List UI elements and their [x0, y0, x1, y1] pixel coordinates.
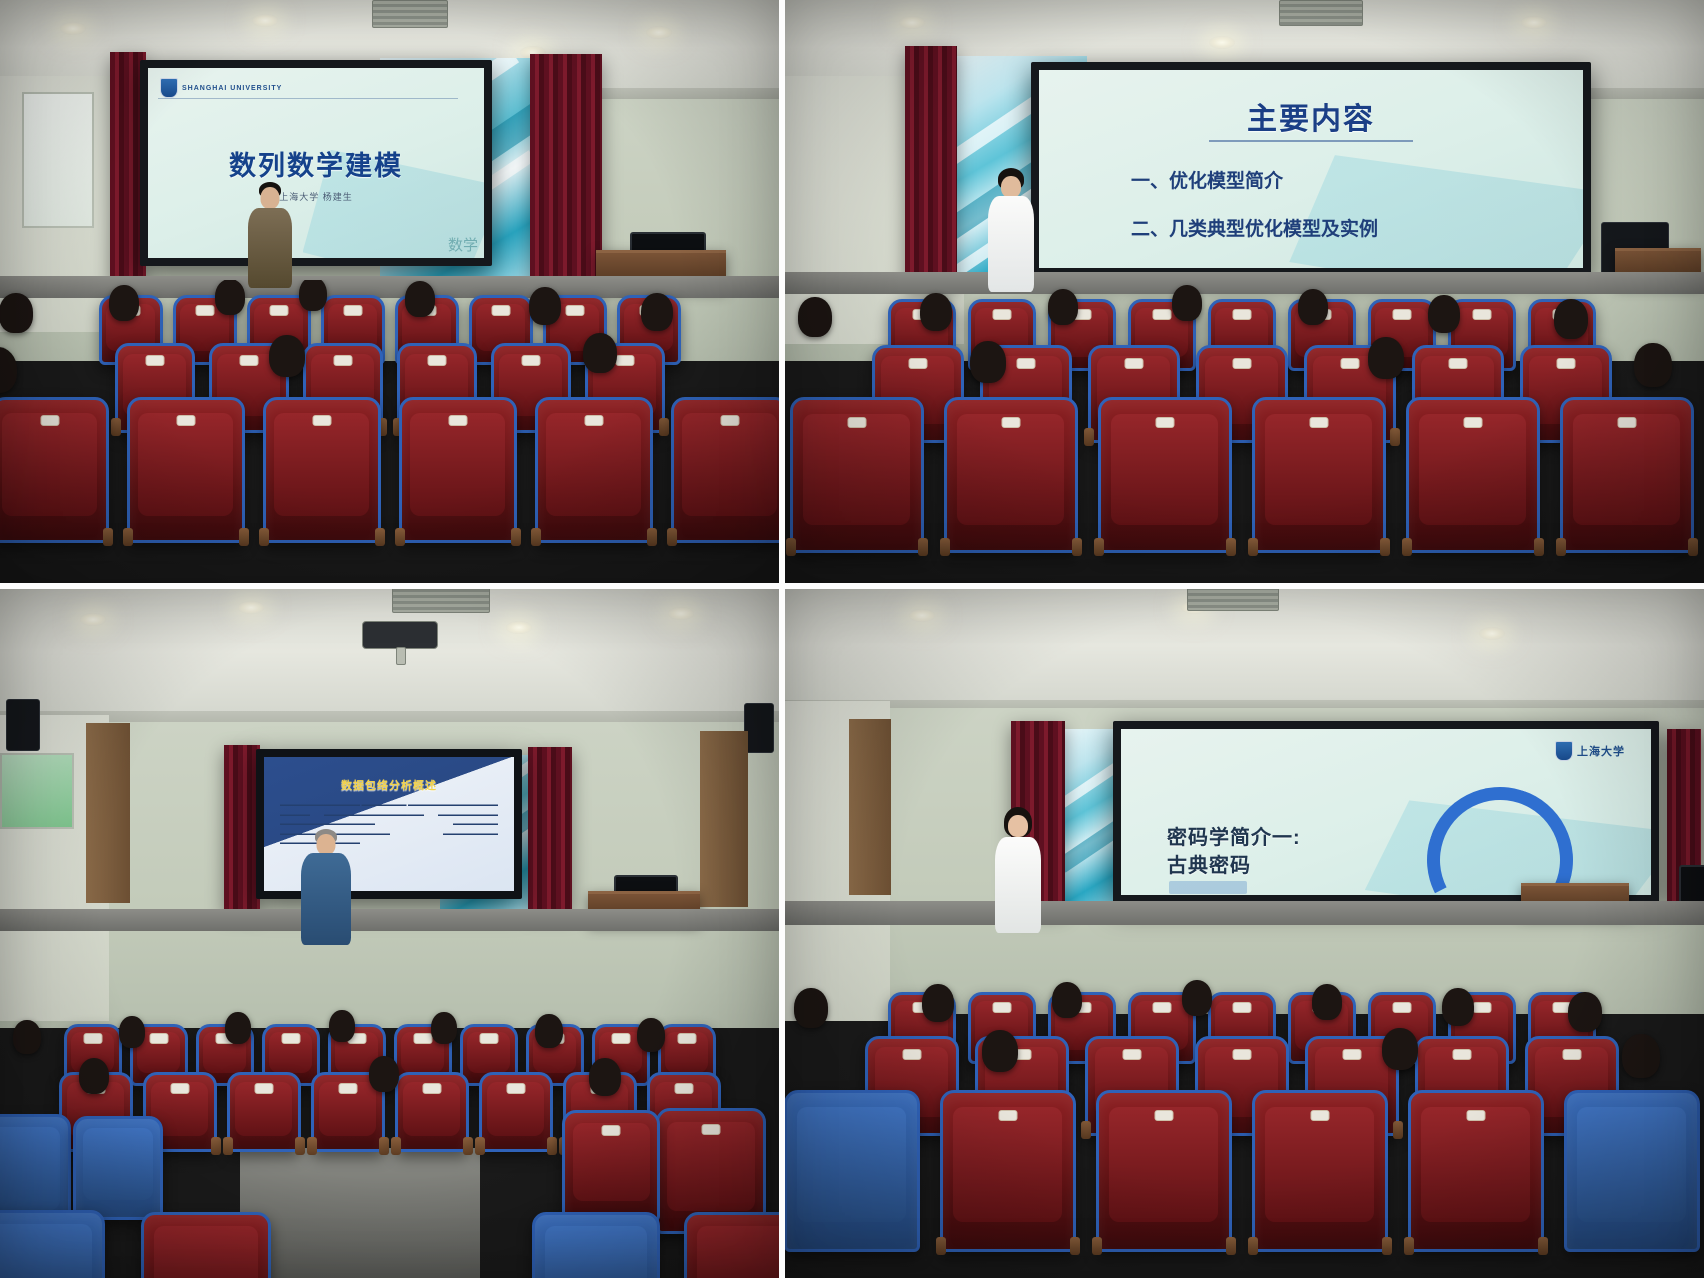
seat-number-tag [427, 355, 446, 366]
air-conditioning-vent [372, 0, 448, 28]
audience-head [798, 297, 832, 337]
presenter-head [317, 834, 336, 855]
ceiling-downlight [668, 607, 694, 620]
auditorium-seat [535, 397, 653, 543]
audience-head [431, 1012, 457, 1044]
seat-number-tag [479, 1033, 498, 1044]
seat-armrest [1404, 1237, 1414, 1255]
audience-head [589, 1058, 621, 1096]
seat-armrest [1226, 1237, 1236, 1255]
seat-number-tag [1472, 1002, 1491, 1013]
auditorium-seat [671, 397, 780, 543]
seat-number-tag [145, 355, 164, 366]
seat-number-tag [448, 415, 467, 426]
seat-armrest [295, 1137, 305, 1155]
audience-head [922, 984, 954, 1022]
audience-head [79, 1058, 109, 1094]
auditorium-seat-right-aisle [562, 1110, 660, 1222]
auditorium-seat [395, 1072, 469, 1152]
auditorium-seat [1096, 1090, 1232, 1252]
audience-head [583, 333, 617, 373]
seat-armrest [379, 1137, 389, 1155]
slide-logo: SHANGHAI UNIVERSITY [160, 78, 282, 98]
ceiling-downlight [238, 601, 264, 614]
auditorium-seat [1098, 397, 1232, 553]
seat-number-tag [506, 1083, 525, 1094]
ceiling-downlight [1521, 16, 1547, 29]
presenter-body [995, 837, 1041, 933]
wall-speaker-left [6, 699, 40, 751]
seat-armrest [375, 528, 385, 546]
seat-armrest [239, 528, 249, 546]
stage-floor [0, 909, 779, 931]
audience-head [1052, 982, 1082, 1018]
seat-number-tag [1122, 1049, 1141, 1060]
air-conditioning-vent [392, 585, 490, 613]
seat-number-tag [615, 355, 634, 366]
audience-head [1312, 984, 1342, 1020]
seat-number-tag [1016, 358, 1035, 369]
seat-number-tag [1152, 1002, 1171, 1013]
slide-subtitle: 上海大学 杨建生 [148, 190, 484, 203]
seat-number-tag [1556, 358, 1575, 369]
audience-seating [0, 958, 779, 1278]
stage-curtain-right [528, 747, 572, 911]
seat-armrest [123, 528, 133, 546]
auditorium-seat-front-row [684, 1212, 779, 1278]
slide-bullet-item: 一、优化模型简介 [1131, 166, 1283, 193]
audience-head [225, 1012, 251, 1044]
seat-armrest [463, 1137, 473, 1155]
presenter-body [301, 853, 351, 945]
photo-collage: SHANGHAI UNIVERSITY 数列数学建模 上海大学 杨建生 数学 [0, 0, 1704, 1278]
seat-number-tag [1562, 1049, 1581, 1060]
seat-armrest [1248, 1237, 1258, 1255]
seat-number-tag [176, 415, 195, 426]
seat-armrest [1070, 1237, 1080, 1255]
projection-screen: 主要内容 一、优化模型简介 二、几类典型优化模型及实例 [1039, 70, 1583, 268]
door-left [849, 719, 891, 895]
seat-number-tag [1466, 1110, 1485, 1121]
seat-armrest [1538, 1237, 1548, 1255]
window [22, 92, 94, 228]
collage-divider-vertical [779, 0, 785, 1278]
slide-logo-text: SHANGHAI UNIVERSITY [182, 85, 282, 92]
seat-number-tag [422, 1083, 441, 1094]
audience-head [641, 293, 673, 331]
auditorium-seat [1252, 1090, 1388, 1252]
seat-number-tag [1392, 1002, 1411, 1013]
seat-number-tag [847, 417, 866, 428]
audience-head [1568, 992, 1602, 1032]
seat-number-tag [611, 1033, 630, 1044]
seat-number-tag [677, 1033, 696, 1044]
seat-number-tag [149, 1033, 168, 1044]
audience-head [920, 293, 952, 331]
slide-title-underline [1209, 140, 1413, 142]
seat-number-tag [1155, 417, 1174, 428]
seat-number-tag [902, 1049, 921, 1060]
seat-number-tag [1340, 358, 1359, 369]
seat-armrest [547, 1137, 557, 1155]
seat-armrest [1094, 538, 1104, 556]
projection-screen: 上海大学 密码学简介一: 古典密码 [1121, 729, 1651, 895]
seat-armrest [1226, 538, 1236, 556]
auditorium-seat-front-row [0, 1210, 105, 1278]
seat-number-tag [1154, 1110, 1173, 1121]
ceiling-downlight [1479, 627, 1505, 640]
university-crest-icon [160, 78, 178, 98]
slide-subtitle-chip [1169, 881, 1247, 894]
seat-number-tag [1124, 358, 1143, 369]
audience-head [1298, 289, 1328, 325]
audience-seating [779, 931, 1704, 1278]
seat-number-tag [998, 1110, 1017, 1121]
presenter-body [248, 208, 292, 288]
seat-armrest [391, 1137, 401, 1155]
seat-row [779, 397, 1704, 553]
seat-armrest [395, 528, 405, 546]
seat-armrest [786, 538, 796, 556]
seat-armrest [259, 528, 269, 546]
ceiling-downlight [909, 609, 935, 622]
audience-head [109, 285, 139, 321]
photo-panel-bottom-right: 上海大学 密码学简介一: 古典密码 [779, 583, 1704, 1278]
audience-head [794, 988, 828, 1028]
seat-row [0, 397, 779, 543]
photo-panel-top-left: SHANGHAI UNIVERSITY 数列数学建模 上海大学 杨建生 数学 [0, 0, 779, 583]
presenter-figure [985, 168, 1037, 292]
auditorium-seat [227, 1072, 301, 1152]
seat-armrest [1248, 538, 1258, 556]
projection-screen-frame: 上海大学 密码学简介一: 古典密码 [1113, 721, 1659, 903]
audience-seating [0, 280, 779, 583]
seat-number-tag [343, 305, 362, 316]
photo-panel-bottom-left: 数据包络分析概述 ▬▬▬▬▬▬▬▬▬▬▬▬▬▬▬▬ ▬▬▬▬▬▬▬▬▬ ▬▬▬▬… [0, 583, 779, 1278]
seat-number-tag [1310, 1110, 1329, 1121]
seat-armrest [1092, 1237, 1102, 1255]
audience-head [405, 281, 435, 317]
seat-number-tag [1448, 358, 1467, 369]
auditorium-seat [1252, 397, 1386, 553]
seat-number-tag [674, 1083, 693, 1094]
seat-armrest [918, 538, 928, 556]
seat-number-tag [1001, 417, 1020, 428]
auditorium-seat [479, 1072, 553, 1152]
audience-head [1172, 285, 1202, 321]
audience-head [1382, 1028, 1418, 1070]
ceiling-downlight [506, 621, 532, 634]
seat-number-tag [195, 305, 214, 316]
seat-armrest [1688, 538, 1698, 556]
seat-armrest [103, 528, 113, 546]
air-conditioning-vent [1279, 0, 1363, 26]
presenter-body [988, 196, 1034, 292]
seat-armrest [211, 1137, 221, 1155]
slide-logo: 上海大学 [1555, 741, 1625, 761]
ceiling [0, 583, 779, 736]
auditorium-seat [1560, 397, 1694, 553]
seat-armrest [307, 1137, 317, 1155]
audience-head [529, 287, 561, 325]
seat-armrest [1534, 538, 1544, 556]
audience-head [269, 335, 305, 377]
seat-number-tag [992, 1002, 1011, 1013]
seat-armrest [1382, 1237, 1392, 1255]
audience-head [1554, 299, 1588, 339]
seat-number-tag [1392, 309, 1411, 320]
seat-armrest [1072, 538, 1082, 556]
auditorium-seat-front-row [532, 1212, 660, 1278]
slide-decoration [1289, 155, 1583, 268]
seat-armrest [511, 528, 521, 546]
slide-title: 数列数学建模 [148, 144, 484, 183]
audience-head [299, 280, 327, 311]
auditorium-seat [263, 397, 381, 543]
presenter-head [1001, 176, 1021, 198]
seat-number-tag [565, 305, 584, 316]
projector-mount-arm [396, 647, 406, 665]
auditorium-seat-left-aisle [73, 1116, 163, 1220]
audience-head [1634, 343, 1672, 387]
presenter-figure [242, 182, 298, 288]
seat-number-tag [338, 1083, 357, 1094]
seat-number-tag [40, 415, 59, 426]
ceiling-downlight [1209, 36, 1235, 49]
audience-head [1442, 988, 1474, 1026]
seat-number-tag [1342, 1049, 1361, 1060]
seat-number-tag [602, 1125, 621, 1136]
projection-screen: SHANGHAI UNIVERSITY 数列数学建模 上海大学 杨建生 数学 [148, 68, 484, 258]
audience-head [1048, 289, 1078, 325]
auditorium-seat [1564, 1090, 1700, 1252]
door-left [86, 723, 130, 903]
exit-sign-panel [0, 753, 74, 829]
auditorium-seat [127, 397, 245, 543]
seat-number-tag [239, 355, 258, 366]
seat-armrest [940, 538, 950, 556]
seat-number-tag [908, 358, 927, 369]
ceiling-downlight [252, 14, 278, 27]
seat-number-tag [83, 1033, 102, 1044]
ceiling-downlight [646, 26, 672, 39]
stage-curtain-left [224, 745, 260, 911]
seat-number-tag [254, 1083, 273, 1094]
slide-title: 主要内容 [1039, 94, 1583, 138]
seat-armrest [1380, 538, 1390, 556]
wall-speaker-right [744, 703, 774, 753]
seat-number-tag [1232, 1049, 1251, 1060]
audience-head [1368, 337, 1404, 379]
presenter-figure [296, 829, 356, 945]
ceiling-projector [362, 621, 438, 649]
collage-divider-horizontal [0, 583, 1704, 589]
projection-screen-frame: 主要内容 一、优化模型简介 二、几类典型优化模型及实例 [1031, 62, 1591, 276]
seat-armrest [1556, 538, 1566, 556]
seat-number-tag [521, 355, 540, 366]
seat-number-tag [1472, 309, 1491, 320]
audience-head [215, 280, 245, 315]
audience-head [119, 1016, 145, 1048]
seat-number-tag [491, 305, 510, 316]
photo-panel-top-right: 主要内容 一、优化模型简介 二、几类典型优化模型及实例 [779, 0, 1704, 583]
auditorium-seat-front-row [141, 1212, 271, 1278]
seat-armrest [667, 528, 677, 546]
presenter-head [1008, 815, 1028, 837]
audience-head [329, 1010, 355, 1042]
presenter-figure [991, 807, 1045, 933]
seat-number-tag [1617, 417, 1636, 428]
ceiling-downlight [80, 613, 106, 626]
seat-armrest [531, 528, 541, 546]
auditorium-seat [0, 397, 109, 543]
slide-ring-graphic [1408, 768, 1592, 895]
seat-number-tag [1152, 309, 1171, 320]
audience-head [369, 1056, 399, 1092]
auditorium-seat [1408, 1090, 1544, 1252]
seat-number-tag [269, 305, 288, 316]
seat-armrest [223, 1137, 233, 1155]
slide-bullet-item: 二、几类典型优化模型及实例 [1131, 214, 1378, 241]
seat-number-tag [312, 415, 331, 426]
seat-armrest [1402, 538, 1412, 556]
seat-number-tag [333, 355, 352, 366]
seat-number-tag [1309, 417, 1328, 428]
audience-head [13, 1020, 41, 1054]
projection-screen-frame: SHANGHAI UNIVERSITY 数列数学建模 上海大学 杨建生 数学 [140, 60, 492, 266]
seat-number-tag [702, 1124, 721, 1135]
university-crest-icon [1555, 741, 1573, 761]
slide-watermark: 数学 [448, 234, 478, 255]
auditorium-seat [940, 1090, 1076, 1252]
seat-number-tag [992, 309, 1011, 320]
seat-armrest [647, 528, 657, 546]
slide-title-line1: 密码学简介一: [1167, 821, 1301, 850]
seat-armrest [475, 1137, 485, 1155]
seat-armrest [936, 1237, 946, 1255]
slide-rule [158, 98, 458, 99]
auditorium-seat [944, 397, 1078, 553]
door-right [700, 731, 748, 907]
seat-number-tag [1232, 309, 1251, 320]
seat-number-tag [1232, 1002, 1251, 1013]
seat-number-tag [281, 1033, 300, 1044]
slide-title-line2: 古典密码 [1167, 849, 1251, 878]
audience-head [637, 1018, 665, 1052]
audience-head [970, 341, 1006, 383]
seat-number-tag [1452, 1049, 1471, 1060]
seat-number-tag [413, 1033, 432, 1044]
audience-head [535, 1014, 563, 1048]
audience-seating [779, 280, 1704, 583]
slide-title: 数据包络分析概述 [264, 777, 514, 793]
seat-number-tag [720, 415, 739, 426]
seat-number-tag [1232, 358, 1251, 369]
stage-curtain-right [530, 54, 602, 294]
auditorium-seat [399, 397, 517, 543]
stage-curtain-left [905, 46, 957, 290]
seat-number-tag [1463, 417, 1482, 428]
presenter-head [261, 187, 280, 209]
audience-head [1182, 980, 1212, 1016]
ceiling-downlight [60, 22, 86, 35]
stage-floor [779, 901, 1704, 925]
seat-number-tag [584, 415, 603, 426]
seat-row [779, 1090, 1704, 1252]
auditorium-seat [1406, 397, 1540, 553]
audience-head [1622, 1034, 1660, 1078]
seat-number-tag [170, 1083, 189, 1094]
auditorium-seat [784, 1090, 920, 1252]
audience-head [982, 1030, 1018, 1072]
audience-head [1428, 295, 1460, 333]
audience-head [0, 293, 33, 333]
auditorium-seat [790, 397, 924, 553]
ceiling-downlight [899, 16, 925, 29]
slide-logo-text: 上海大学 [1577, 743, 1625, 759]
